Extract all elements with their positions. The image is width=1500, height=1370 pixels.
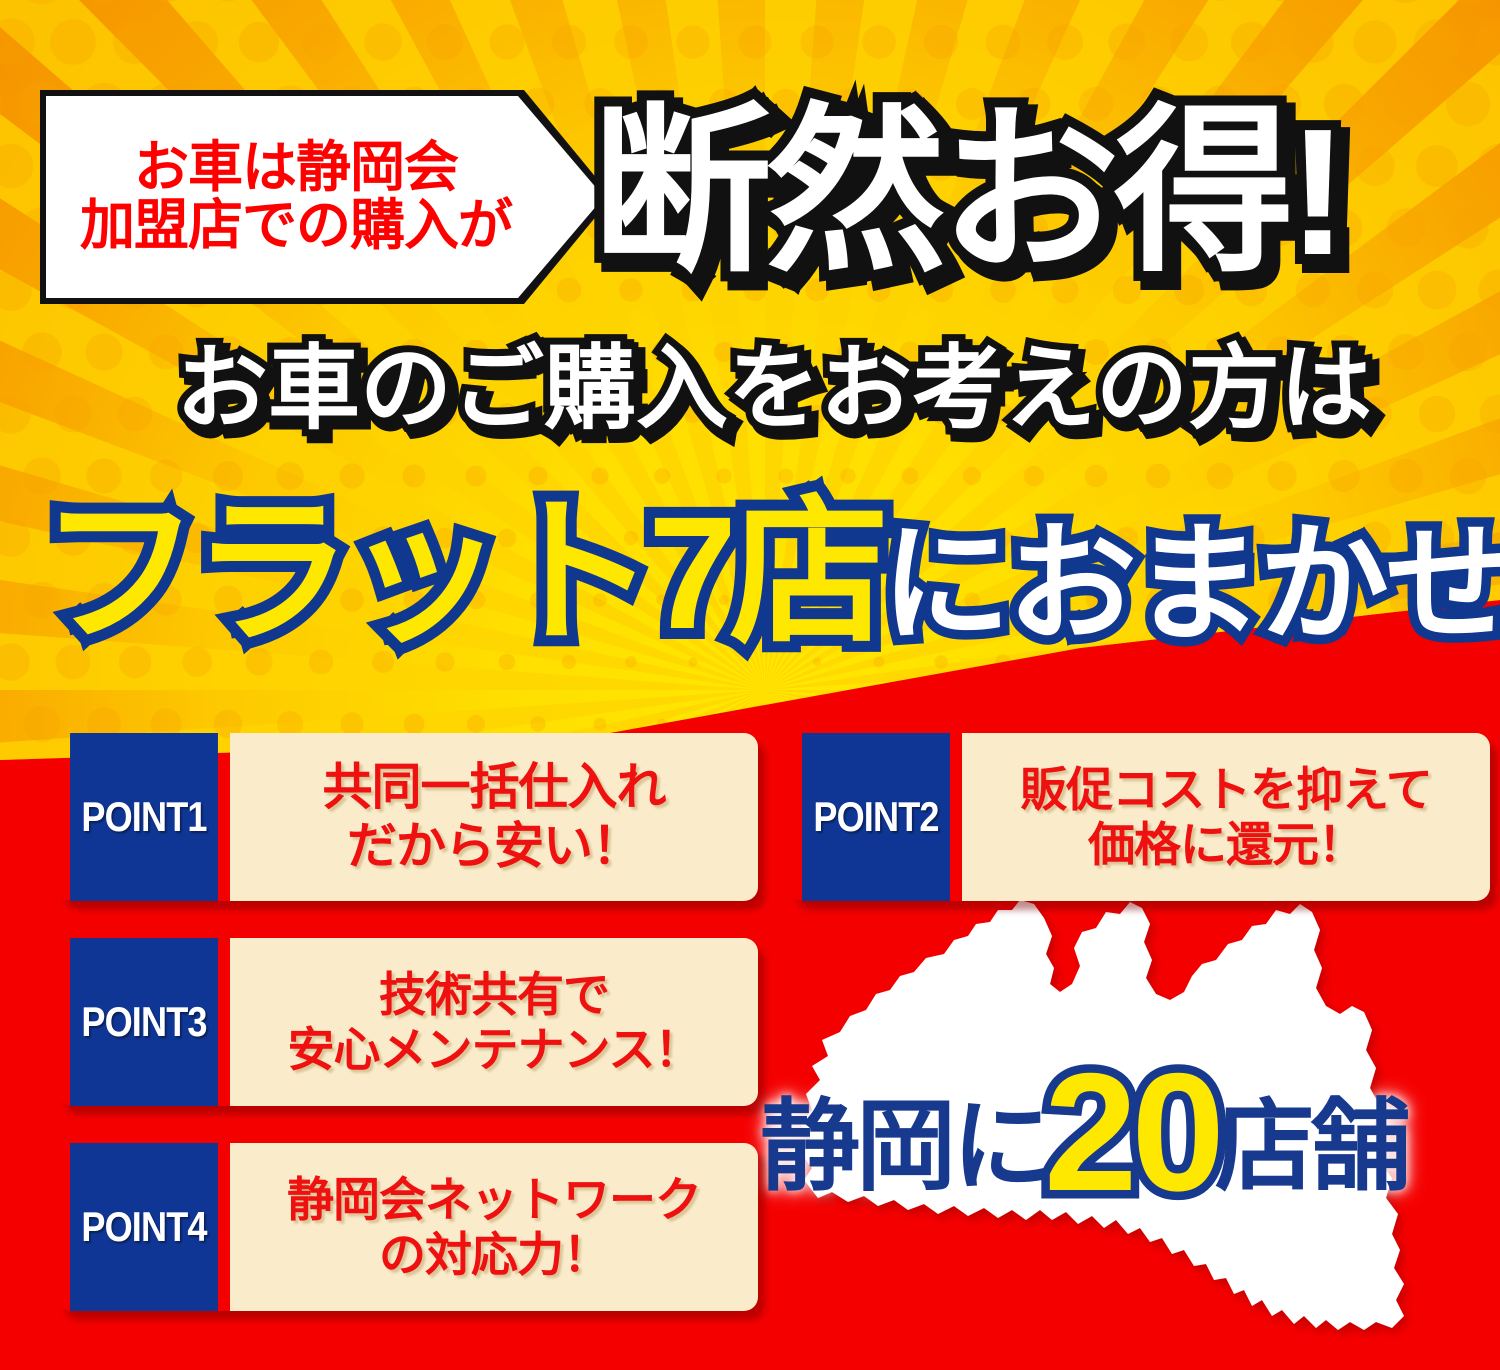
- point-label-2: POINT2: [802, 733, 950, 901]
- store-count-number: 20: [1044, 1067, 1219, 1198]
- point-body-2: 販促コストを抑えて 価格に還元！: [962, 733, 1490, 901]
- badge-line-2: 加盟店での購入が: [80, 197, 512, 255]
- point-card-3[interactable]: POINT3 技術共有で 安心メンテナンス！: [58, 938, 758, 1106]
- badge-line-1: お車は静岡会: [134, 139, 458, 197]
- point-3-line-1: 技術共有で: [379, 967, 609, 1022]
- headline-brand-line: フラット7店 におまかせ!!: [40, 478, 1470, 653]
- point-3-line-2: 安心メンテナンス！: [287, 1022, 700, 1077]
- point-1-line-2: だから安い！: [347, 817, 641, 876]
- point-body-4: 静岡会ネットワーク の対応力！: [230, 1143, 758, 1311]
- point-2-line-1: 販促コストを抑えて: [1020, 762, 1432, 817]
- store-count-line: 静岡に 20 店舗: [760, 1082, 1500, 1212]
- point-card-4[interactable]: POINT4 静岡会ネットワーク の対応力！: [58, 1143, 758, 1311]
- store-count-prefix: 静岡に: [760, 1097, 1048, 1197]
- point-1-line-1: 共同一括仕入れ: [323, 758, 666, 817]
- point-body-1: 共同一括仕入れ だから安い！: [230, 733, 758, 901]
- point-label-3: POINT3: [70, 938, 218, 1106]
- brand-name: フラット7店: [40, 493, 881, 653]
- point-card-1[interactable]: POINT1 共同一括仕入れ だから安い！: [58, 733, 758, 901]
- point-label-1: POINT1: [70, 733, 218, 901]
- headline-sub: お車のご購入をお考えの方は: [184, 334, 1364, 444]
- point-2-line-2: 価格に還元！: [1088, 817, 1364, 872]
- point-4-line-1: 静岡会ネットワーク: [287, 1172, 701, 1227]
- point-body-3: 技術共有で 安心メンテナンス！: [230, 938, 758, 1106]
- point-label-4: POINT4: [70, 1143, 218, 1311]
- point-4-line-2: の対応力！: [379, 1227, 609, 1282]
- headline-main: 断然お得!: [592, 78, 1472, 308]
- store-count-suffix: 店舗: [1215, 1097, 1407, 1197]
- point-card-2[interactable]: POINT2 販促コストを抑えて 価格に還元！: [790, 733, 1490, 901]
- promo-banner: お車は静岡会 加盟店での購入が 断然お得! 断然お得! お車のご購入をお考えの方…: [0, 0, 1500, 1370]
- brand-tail: におまかせ!!: [881, 519, 1500, 653]
- arrow-badge-text: お車は静岡会 加盟店での購入が: [46, 96, 546, 298]
